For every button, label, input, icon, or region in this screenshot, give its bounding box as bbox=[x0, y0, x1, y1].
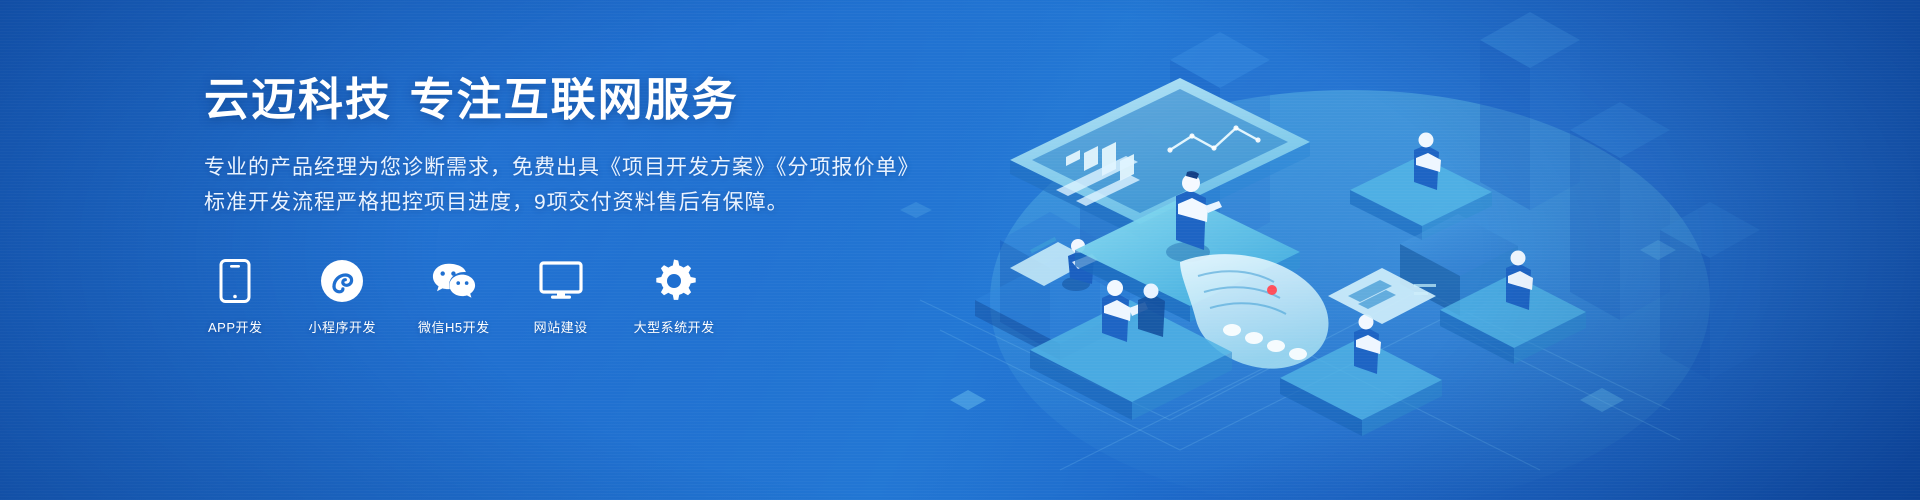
hero-subline-2: 标准开发流程严格把控项目进度，9项交付资料售后有保障。 bbox=[204, 185, 964, 220]
hero-illustration bbox=[880, 0, 1920, 500]
service-item-system[interactable]: 大型系统开发 bbox=[634, 258, 715, 336]
service-label-miniprogram: 小程序开发 bbox=[309, 317, 377, 336]
mobile-phone-icon bbox=[212, 258, 258, 304]
service-item-website[interactable]: 网站建设 bbox=[534, 258, 588, 336]
monitor-icon bbox=[538, 258, 584, 304]
hero-headline: 云迈科技 专注互联网服务 bbox=[204, 72, 964, 128]
mini-program-icon bbox=[319, 258, 365, 304]
hero-content: 云迈科技 专注互联网服务 专业的产品经理为您诊断需求，免费出具《项目开发方案》《… bbox=[204, 72, 964, 336]
service-item-miniprogram[interactable]: 小程序开发 bbox=[309, 258, 377, 336]
service-label-app: APP开发 bbox=[208, 317, 263, 336]
service-icon-row: APP开发 小程序开发 bbox=[204, 258, 964, 336]
hero-subline-1: 专业的产品经理为您诊断需求，免费出具《项目开发方案》《分项报价单》 bbox=[204, 150, 964, 185]
service-item-wechat[interactable]: 微信H5开发 bbox=[418, 258, 490, 336]
service-label-website: 网站建设 bbox=[534, 317, 588, 336]
gear-icon bbox=[651, 258, 697, 304]
service-label-wechat: 微信H5开发 bbox=[418, 317, 490, 336]
service-item-app[interactable]: APP开发 bbox=[208, 258, 263, 336]
service-label-system: 大型系统开发 bbox=[634, 317, 715, 336]
hero-banner: 云迈科技 专注互联网服务 专业的产品经理为您诊断需求，免费出具《项目开发方案》《… bbox=[0, 0, 1920, 500]
wechat-icon bbox=[431, 258, 477, 304]
